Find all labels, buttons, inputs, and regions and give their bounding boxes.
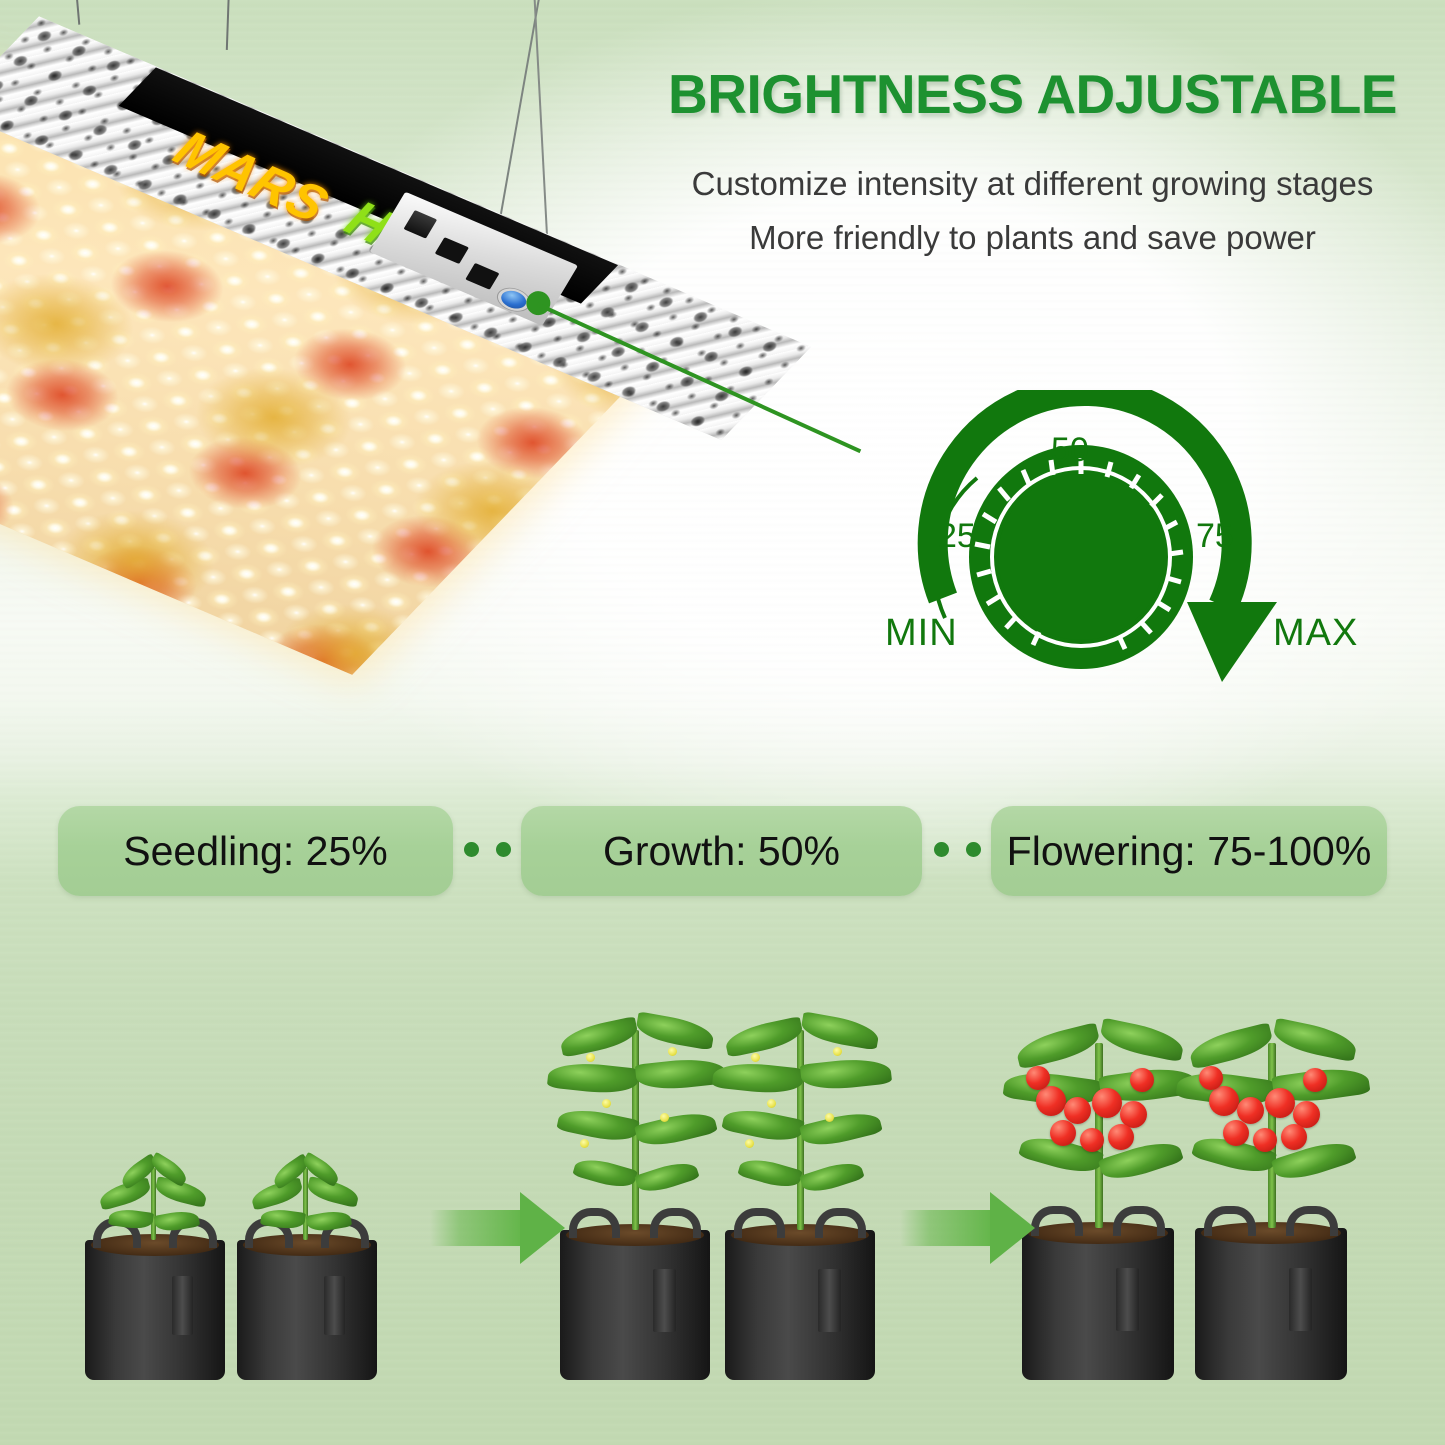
stage-pill-growth[interactable]: Growth: 50% bbox=[521, 806, 922, 896]
grow-bag-handle bbox=[1204, 1206, 1256, 1236]
arrow-head bbox=[990, 1192, 1035, 1264]
stage-pill-flowering[interactable]: Flowering: 75-100% bbox=[991, 806, 1387, 896]
grow-bag-handle bbox=[569, 1208, 620, 1238]
dial-tick-label-75: 75 bbox=[1196, 517, 1234, 556]
grow-bag bbox=[725, 1230, 875, 1380]
arrow-shaft bbox=[900, 1210, 992, 1246]
grow-bag-handle bbox=[815, 1208, 866, 1238]
growth-stage-labels: Seedling: 25% Growth: 50% Flowering: 75-… bbox=[0, 806, 1445, 898]
grow-bag bbox=[237, 1240, 377, 1380]
plant-group-flowering bbox=[1000, 965, 1390, 1380]
dial-tick-label-25: 25 bbox=[938, 517, 976, 556]
grow-bag-handle bbox=[734, 1208, 785, 1238]
product-infographic: BRIGHTNESS ADJUSTABLE Customize intensit… bbox=[0, 0, 1445, 1445]
plant-group-seedling bbox=[85, 1125, 405, 1380]
separator-dot bbox=[496, 842, 511, 857]
grow-bag-handle bbox=[650, 1208, 701, 1238]
grow-bag bbox=[1022, 1228, 1174, 1380]
rotation-arrowhead bbox=[1187, 602, 1277, 682]
knob-inner-cap bbox=[998, 474, 1164, 640]
daisy-chain-port-2[interactable] bbox=[465, 263, 499, 290]
separator-dot bbox=[934, 842, 949, 857]
stage-progress-arrow-1 bbox=[430, 1192, 565, 1264]
dial-label-min: MIN bbox=[885, 612, 958, 655]
grow-bag bbox=[1195, 1228, 1347, 1380]
dimmer-knob[interactable] bbox=[498, 287, 530, 312]
plant-growth-stages bbox=[0, 930, 1445, 1380]
arrow-head bbox=[520, 1192, 565, 1264]
brightness-dial-diagram: 25 50 75 MIN MAX bbox=[885, 390, 1375, 690]
grow-bag-handle bbox=[1113, 1206, 1165, 1236]
dial-tick-label-50: 50 bbox=[1051, 431, 1089, 470]
grow-bag bbox=[85, 1240, 225, 1380]
separator-dot bbox=[464, 842, 479, 857]
led-panel: MARS HYDRO MARS HYDRO bbox=[0, 0, 821, 660]
grow-bag bbox=[560, 1230, 710, 1380]
separator-dot bbox=[966, 842, 981, 857]
led-grow-light-product: MARS HYDRO MARS HYDRO bbox=[0, 0, 870, 730]
plant-group-growth bbox=[540, 980, 915, 1380]
grow-bag-handle bbox=[1286, 1206, 1338, 1236]
arrow-shaft bbox=[430, 1210, 522, 1246]
stage-progress-arrow-2 bbox=[900, 1192, 1035, 1264]
grow-bag-handle bbox=[1031, 1206, 1083, 1236]
daisy-chain-port-1[interactable] bbox=[435, 237, 469, 264]
power-switch[interactable] bbox=[403, 210, 437, 239]
stage-pill-seedling[interactable]: Seedling: 25% bbox=[58, 806, 453, 896]
dial-label-max: MAX bbox=[1273, 612, 1358, 655]
